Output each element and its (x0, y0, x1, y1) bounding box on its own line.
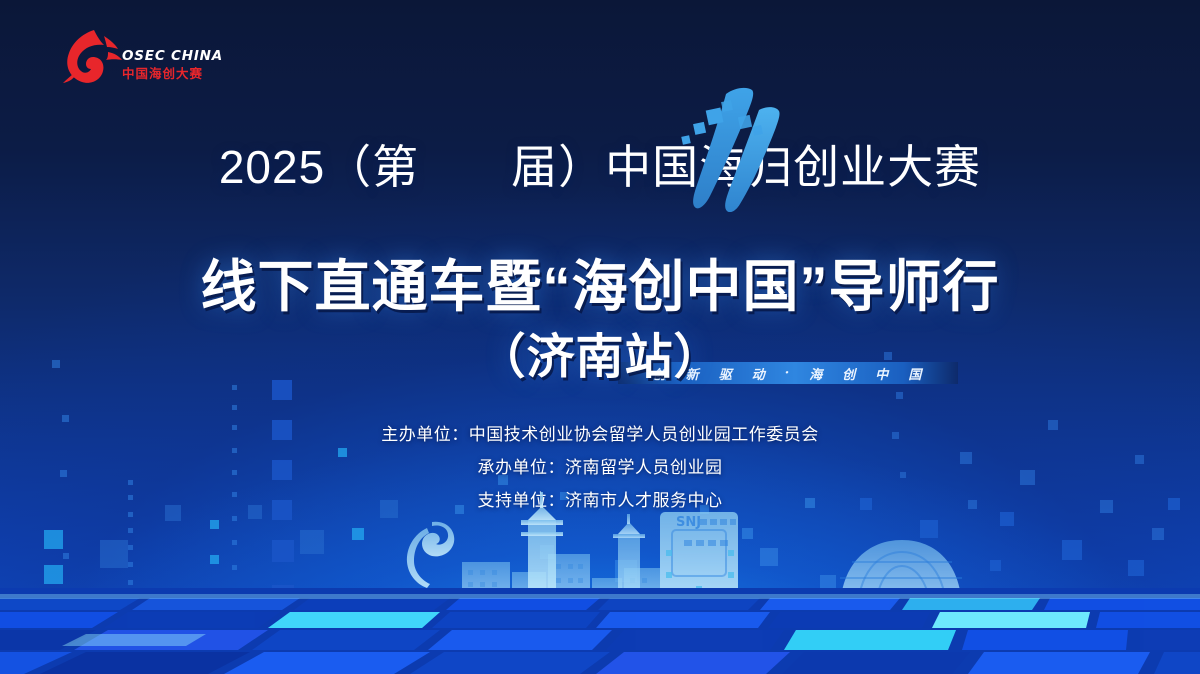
perspective-grid-floor (0, 588, 1200, 674)
logo-latin-text: OSEC CHINA (122, 50, 212, 64)
flame-phoenix-icon (60, 28, 122, 84)
main-headline: 线下直通车暨“海创中国”导师行 (0, 256, 1200, 319)
competition-title-block: 2025（第届）中国海归创业大赛 (0, 140, 1200, 190)
title-year: 2025 (219, 144, 325, 190)
osec-china-logo: OSEC CHINA 中国海创大赛 (60, 28, 210, 90)
headline-city-station: （济南站） (0, 332, 1200, 385)
logo-text-group: OSEC CHINA 中国海创大赛 (122, 50, 212, 80)
organizer-host: 主办单位：中国技术创业协会留学人员创业园工作委员会 (0, 418, 1200, 451)
snj-building-label: SNJ (676, 515, 701, 530)
organizer-coorganizer: 承办单位：济南留学人员创业园 (0, 451, 1200, 484)
brush-stroke-roman-two-icon (660, 82, 780, 212)
title-bracket-close: 届） (511, 144, 605, 190)
logo-chinese-text: 中国海创大赛 (122, 68, 212, 81)
title-bracket-open: （第 (325, 144, 419, 190)
event-poster: OSEC CHINA 中国海创大赛 2025（第届）中国海归创业大赛 (0, 0, 1200, 674)
roman-numeral-slot (419, 166, 511, 167)
competition-title-line: 2025（第届）中国海归创业大赛 (219, 140, 981, 190)
floor-tiles-svg (0, 588, 1200, 674)
